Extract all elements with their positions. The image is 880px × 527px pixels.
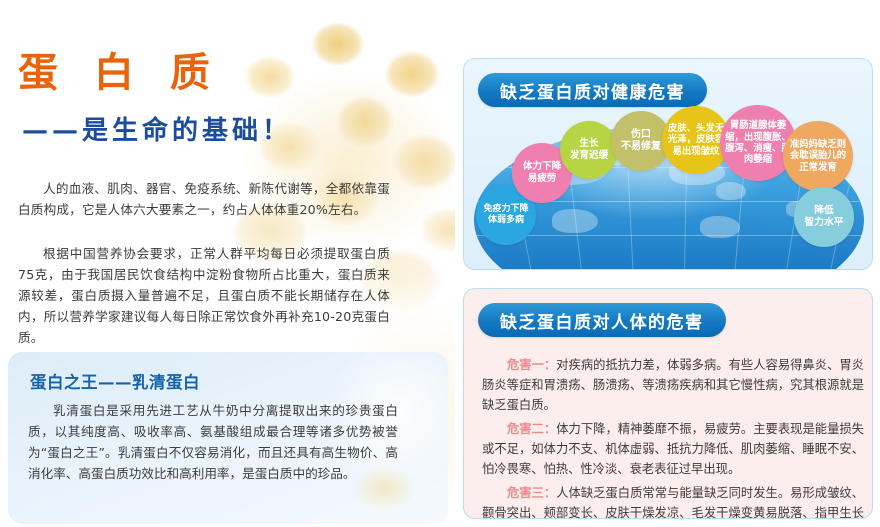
harm-label-1: 危害一： — [507, 358, 556, 372]
harm-panel-heading: 缺乏蛋白质对人体的危害 — [478, 303, 726, 337]
right-column: 缺乏蛋白质对健康危害 免疫力下降 体弱多病体力下降 易疲劳生长 发育迟缓伤口 不… — [455, 0, 880, 527]
harm-item-2: 危害二：体力下降，精神萎靡不振，易疲劳。主要表现是能量损失或不足，如体力不支、机… — [482, 419, 864, 479]
health-panel-heading: 缺乏蛋白质对健康危害 — [478, 73, 707, 107]
body-harm-panel: 缺乏蛋白质对人体的危害 危害一：对疾病的抵抗力差，体弱多病。有些人容易得鼻炎、胃… — [463, 288, 873, 519]
whey-card-title: 蛋白之王——乳清蛋白 — [30, 369, 200, 393]
whey-protein-card: 蛋白之王——乳清蛋白 乳清蛋白是采用先进工艺从牛奶中分离提取出来的珍贵蛋白质，以… — [8, 352, 448, 524]
health-risk-bubble: 准妈妈缺乏则会耽误胎儿的正常发育 — [783, 121, 853, 191]
health-risk-bubble: 生长 发育迟缓 — [560, 121, 618, 179]
harm-label-3: 危害三： — [507, 486, 556, 500]
harm-item-3: 危害三：人体缺乏蛋白质常常与能量缺乏同时发生。易形成皱纹、颧骨突出、颊部变长、皮… — [482, 483, 864, 519]
intro-paragraph-2: 根据中国营养协会要求，正常人群平均每日必须提取蛋白质75克，由于我国居民饮食结构… — [18, 243, 390, 348]
infographic-page: 蛋 白 质 ——是生命的基础！ 人的血液、肌肉、器官、免疫系统、新陈代谢等，全都… — [0, 0, 880, 527]
harm-item-1: 危害一：对疾病的抵抗力差，体弱多病。有些人容易得鼻炎、胃炎肠炎等症和胃溃疡、肠溃… — [482, 355, 864, 415]
health-harm-panel: 缺乏蛋白质对健康危害 免疫力下降 体弱多病体力下降 易疲劳生长 发育迟缓伤口 不… — [463, 58, 873, 270]
globe-landmass — [700, 216, 740, 238]
globe-landmass — [552, 209, 598, 233]
harm-label-2: 危害二： — [507, 422, 556, 436]
left-column: 蛋 白 质 ——是生命的基础！ 人的血液、肌肉、器官、免疫系统、新陈代谢等，全都… — [0, 0, 455, 527]
intro-paragraph-1: 人的血液、肌肉、器官、免疫系统、新陈代谢等，全都依靠蛋白质构成，它是人体六大要素… — [18, 178, 390, 220]
page-title: 蛋 白 质 — [18, 53, 221, 93]
whey-card-body: 乳清蛋白是采用先进工艺从牛奶中分离提取出来的珍贵蛋白质，以其纯度高、吸收率高、氨… — [28, 400, 398, 484]
page-subtitle: ——是生命的基础！ — [22, 118, 292, 144]
globe-landmass — [716, 182, 746, 200]
health-risk-bubble: 降低 智力水平 — [794, 187, 854, 247]
